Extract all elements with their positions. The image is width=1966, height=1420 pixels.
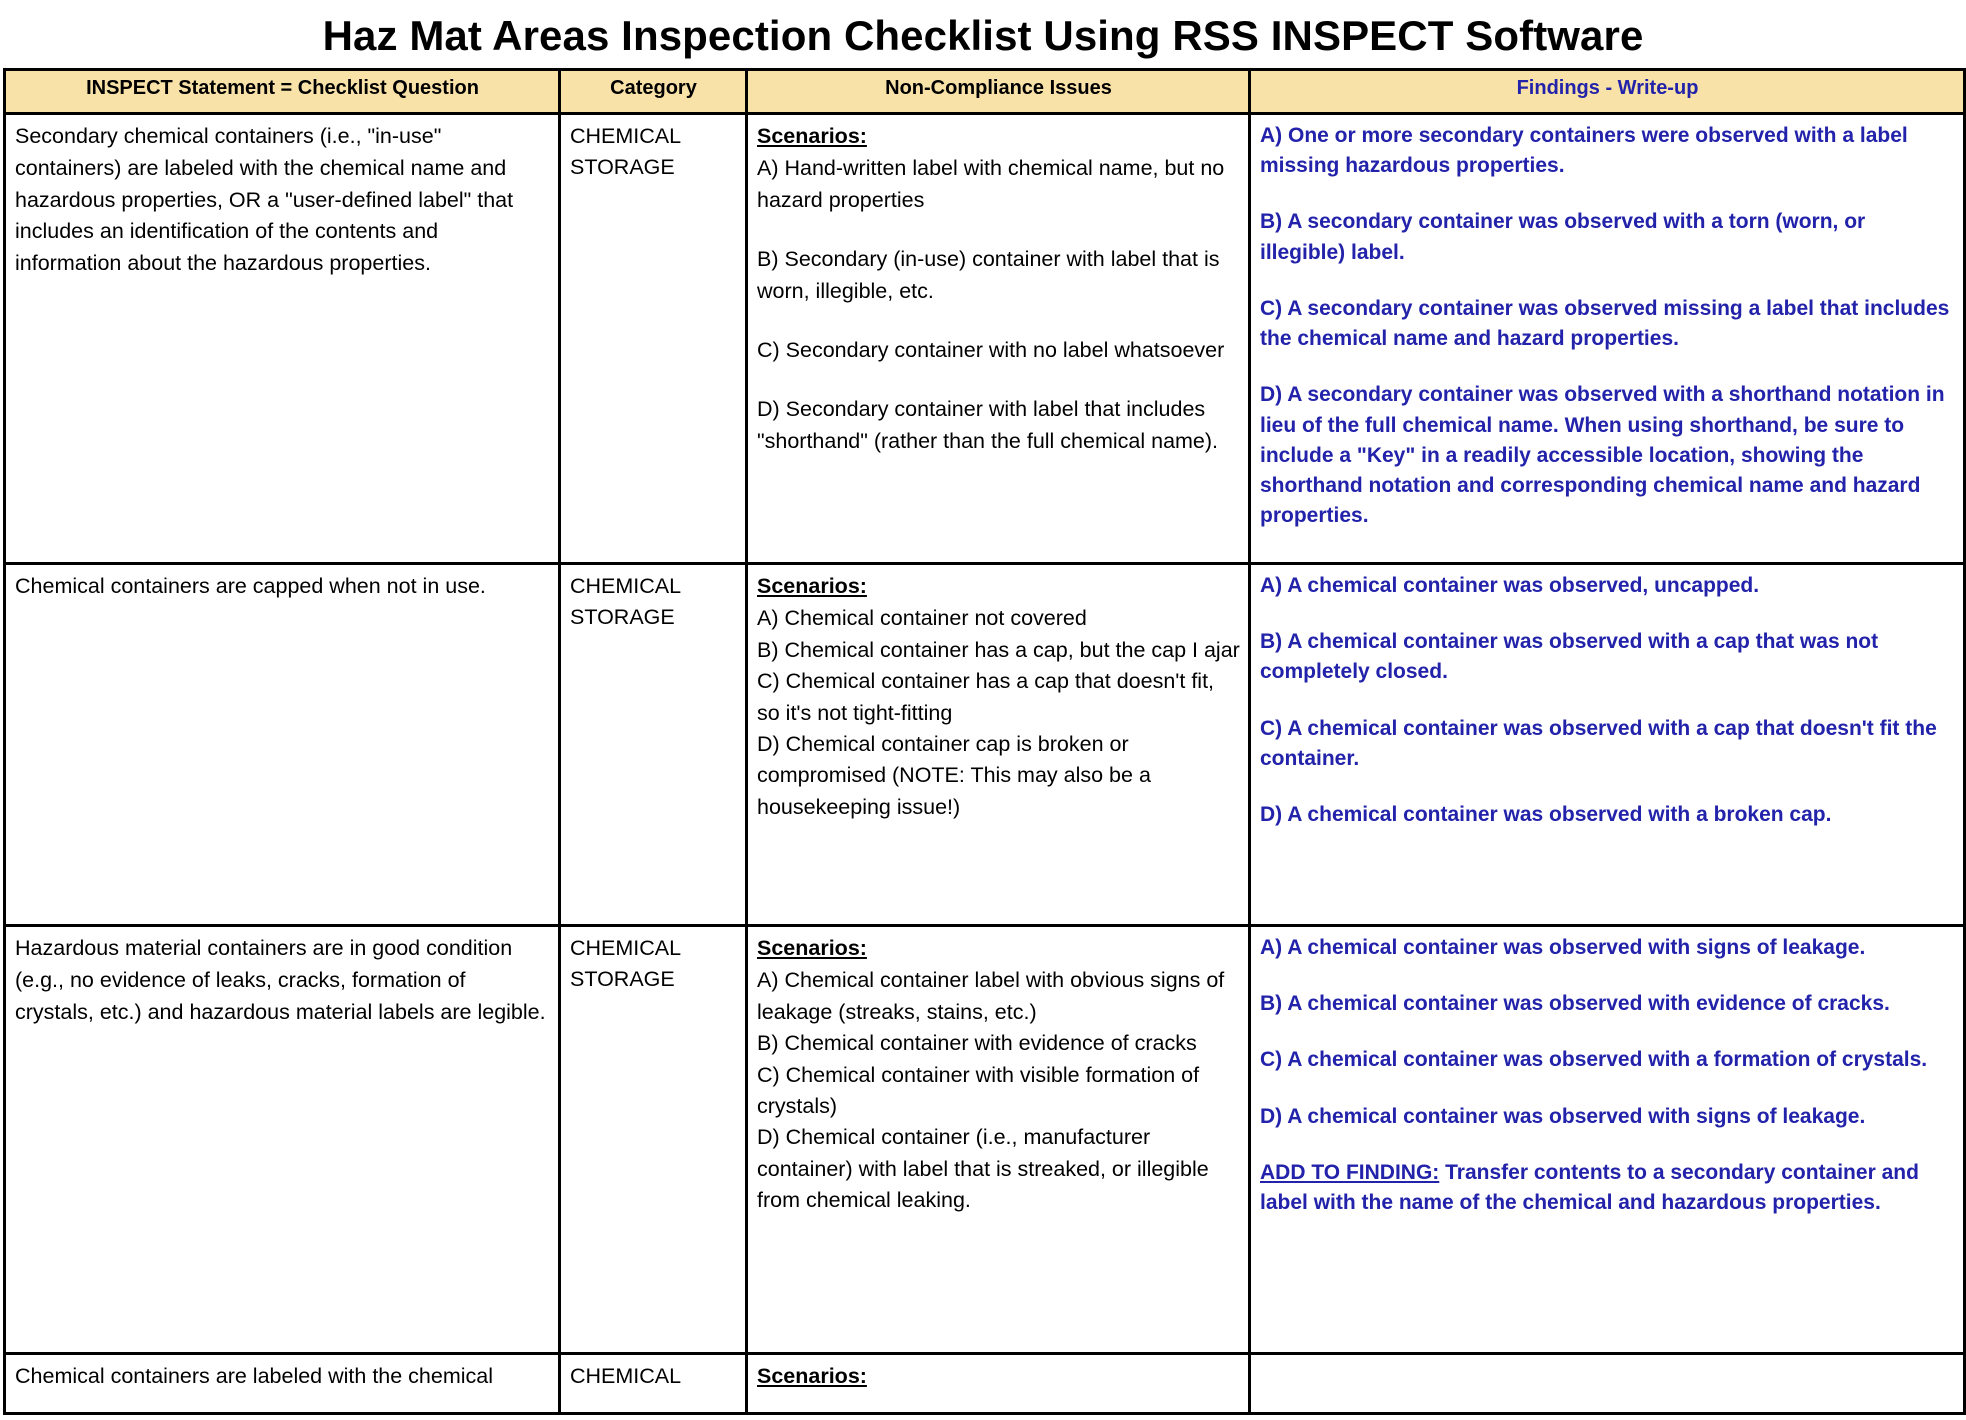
cell-statement: Secondary chemical containers (i.e., "in… <box>5 114 560 564</box>
table-row: Hazardous material containers are in goo… <box>5 926 1965 1354</box>
finding-item: B) A chemical container was observed wit… <box>1260 989 1955 1019</box>
cell-category: CHEMICAL STORAGE <box>560 114 747 564</box>
cell-non-compliance-issues: Scenarios:A) Chemical container not cove… <box>747 564 1250 926</box>
issue-item: C) Chemical container has a cap that doe… <box>757 666 1240 729</box>
column-header-non-compliance-issues: Non-Compliance Issues <box>747 70 1250 114</box>
column-header-category: Category <box>560 70 747 114</box>
cell-non-compliance-issues: Scenarios:A) Hand-written label with che… <box>747 114 1250 564</box>
table-row: Secondary chemical containers (i.e., "in… <box>5 114 1965 564</box>
finding-item: A) A chemical container was observed wit… <box>1260 933 1955 963</box>
cell-statement: Chemical containers are capped when not … <box>5 564 560 926</box>
cell-category: CHEMICAL STORAGE <box>560 564 747 926</box>
issue-item: D) Chemical container cap is broken or c… <box>757 729 1240 823</box>
finding-item: B) A chemical container was observed wit… <box>1260 627 1955 687</box>
issue-item: B) Secondary (in-use) container with lab… <box>757 244 1240 307</box>
issue-item: D) Secondary container with label that i… <box>757 394 1240 457</box>
cell-statement: Hazardous material containers are in goo… <box>5 926 560 1354</box>
scenarios-label: Scenarios: <box>757 933 1240 964</box>
finding-item: C) A chemical container was observed wit… <box>1260 714 1955 774</box>
cell-findings-writeup <box>1250 1354 1965 1414</box>
issue-item: C) Secondary container with no label wha… <box>757 335 1240 366</box>
issue-item: A) Chemical container label with obvious… <box>757 965 1240 1028</box>
cell-statement: Chemical containers are labeled with the… <box>5 1354 560 1414</box>
cell-findings-writeup: A) One or more secondary containers were… <box>1250 114 1965 564</box>
issue-item: B) Chemical container has a cap, but the… <box>757 635 1240 666</box>
add-to-finding-item: ADD TO FINDING: Transfer contents to a s… <box>1260 1158 1955 1218</box>
cell-findings-writeup: A) A chemical container was observed wit… <box>1250 926 1965 1354</box>
finding-item: C) A secondary container was observed mi… <box>1260 294 1955 354</box>
cell-non-compliance-issues: Scenarios:A) Chemical container label wi… <box>747 926 1250 1354</box>
issue-item: A) Chemical container not covered <box>757 603 1240 634</box>
scenarios-label: Scenarios: <box>757 571 1240 602</box>
issue-spacer <box>757 216 1240 244</box>
table-row: Chemical containers are labeled with the… <box>5 1354 1965 1414</box>
finding-item: B) A secondary container was observed wi… <box>1260 207 1955 267</box>
table-row: Chemical containers are capped when not … <box>5 564 1965 926</box>
table-body: Secondary chemical containers (i.e., "in… <box>5 114 1965 1414</box>
issue-item: D) Chemical container (i.e., manufacture… <box>757 1122 1240 1216</box>
issue-item: B) Chemical container with evidence of c… <box>757 1028 1240 1059</box>
inspection-checklist-table: INSPECT Statement = Checklist Question C… <box>3 68 1966 1415</box>
finding-item: A) One or more secondary containers were… <box>1260 121 1955 181</box>
finding-item: C) A chemical container was observed wit… <box>1260 1045 1955 1075</box>
add-to-finding-label: ADD TO FINDING: <box>1260 1161 1439 1184</box>
table-header-row: INSPECT Statement = Checklist Question C… <box>5 70 1965 114</box>
scenarios-label: Scenarios: <box>757 121 1240 152</box>
cell-category: CHEMICAL <box>560 1354 747 1414</box>
finding-item: A) A chemical container was observed, un… <box>1260 571 1955 601</box>
finding-item: D) A chemical container was observed wit… <box>1260 1102 1955 1132</box>
issue-spacer <box>757 307 1240 335</box>
scenarios-label: Scenarios: <box>757 1361 1240 1392</box>
cell-category: CHEMICAL STORAGE <box>560 926 747 1354</box>
column-header-findings-writeup: Findings - Write-up <box>1250 70 1965 114</box>
page-title: Haz Mat Areas Inspection Checklist Using… <box>323 12 1644 60</box>
title-bar: Haz Mat Areas Inspection Checklist Using… <box>0 0 1966 68</box>
column-header-statement: INSPECT Statement = Checklist Question <box>5 70 560 114</box>
finding-item: D) A chemical container was observed wit… <box>1260 800 1955 830</box>
issue-item: C) Chemical container with visible forma… <box>757 1060 1240 1123</box>
document-page: Haz Mat Areas Inspection Checklist Using… <box>0 0 1966 1420</box>
cell-findings-writeup: A) A chemical container was observed, un… <box>1250 564 1965 926</box>
table-header: INSPECT Statement = Checklist Question C… <box>5 70 1965 114</box>
issue-spacer <box>757 366 1240 394</box>
finding-item: D) A secondary container was observed wi… <box>1260 380 1955 531</box>
issue-item: A) Hand-written label with chemical name… <box>757 153 1240 216</box>
cell-non-compliance-issues: Scenarios: <box>747 1354 1250 1414</box>
